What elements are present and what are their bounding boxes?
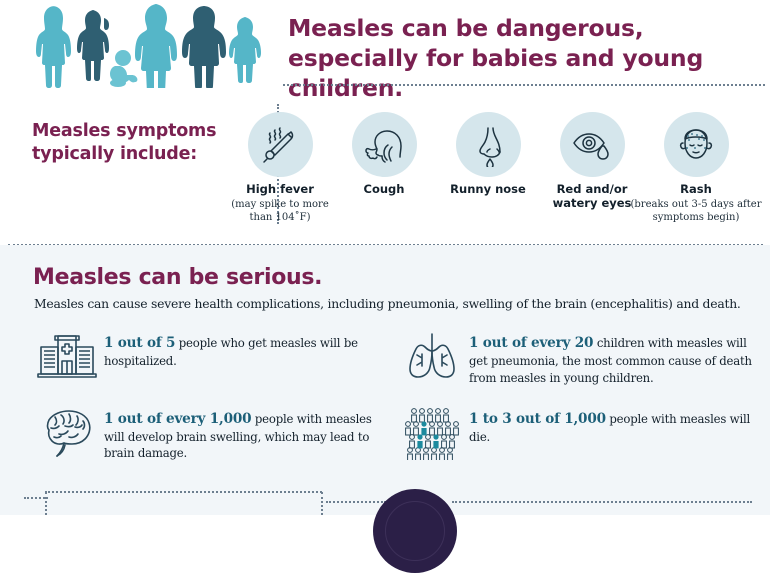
serious-section: Measles can be serious. Measles can caus… (0, 245, 770, 515)
people-grid-icon (395, 404, 469, 460)
symptom-rash: Rash (breaks out 3-5 days after symptoms… (644, 112, 748, 224)
top-section: Measles can be dangerous, especially for… (0, 0, 770, 245)
symptom-runny-nose: Runny nose (436, 112, 540, 198)
footer-dark-circle-ring (385, 501, 445, 561)
stat-text: 1 out of 5 people who get measles will b… (104, 328, 395, 370)
stat-text: 1 to 3 out of 1,000 people with measles … (469, 404, 760, 446)
symptom-sublabel: (breaks out 3-5 days after symptoms begi… (629, 198, 763, 224)
main-headline: Measles can be dangerous, especially for… (288, 13, 758, 103)
symptom-sublabel: (may spike to more than 104˚F) (221, 198, 339, 224)
symptom-label: Runny nose (450, 183, 526, 197)
symptom-label: Rash (680, 183, 712, 197)
serious-subtitle: Measles can cause severe health complica… (34, 296, 754, 311)
footer-dotted-right-vertical (321, 492, 323, 515)
stats-row-1: 1 out of 5 people who get measles will b… (30, 328, 760, 387)
stat-hospitalized: 1 out of 5 people who get measles will b… (30, 328, 395, 387)
stat-brain-swelling: 1 out of every 1,000 people with measles… (30, 404, 395, 463)
hospital-icon (30, 328, 104, 378)
stat-number: 1 to 3 out of 1,000 (469, 411, 606, 427)
stat-text: 1 out of every 20 children with measles … (469, 328, 760, 387)
symptom-watery-eyes: Red and/or watery eyes (540, 112, 644, 212)
footer-dotted-left-vertical (45, 492, 47, 515)
symptoms-row: High fever (may spike to more than 104˚F… (228, 112, 770, 242)
footer-dotted-top (45, 491, 322, 493)
stats-grid: 1 out of 5 people who get measles will b… (30, 328, 760, 462)
thermometer-icon (248, 112, 313, 177)
headline-divider (283, 84, 765, 86)
footer-dotted-right (452, 501, 752, 503)
symptom-label: High fever (246, 183, 314, 197)
watery-eye-icon (560, 112, 625, 177)
stat-pneumonia: 1 out of every 20 children with measles … (395, 328, 760, 387)
stat-text: 1 out of every 1,000 people with measles… (104, 404, 395, 463)
rash-face-icon (664, 112, 729, 177)
stats-row-2: 1 out of every 1,000 people with measles… (30, 404, 760, 463)
stat-number: 1 out of every 20 (469, 335, 593, 351)
stat-number: 1 out of every 1,000 (104, 411, 251, 427)
symptom-cough: Cough (332, 112, 436, 198)
serious-title: Measles can be serious. (33, 265, 322, 290)
brain-icon (30, 404, 104, 458)
symptom-high-fever: High fever (may spike to more than 104˚F… (228, 112, 332, 224)
nose-drip-icon (456, 112, 521, 177)
family-silhouettes-icon (33, 4, 268, 88)
footer-dotted-mid (326, 501, 386, 503)
stat-number: 1 out of 5 (104, 335, 175, 351)
lungs-icon (395, 328, 469, 380)
stat-death: 1 to 3 out of 1,000 people with measles … (395, 404, 760, 463)
symptom-label: Cough (364, 183, 405, 197)
cough-head-icon (352, 112, 417, 177)
